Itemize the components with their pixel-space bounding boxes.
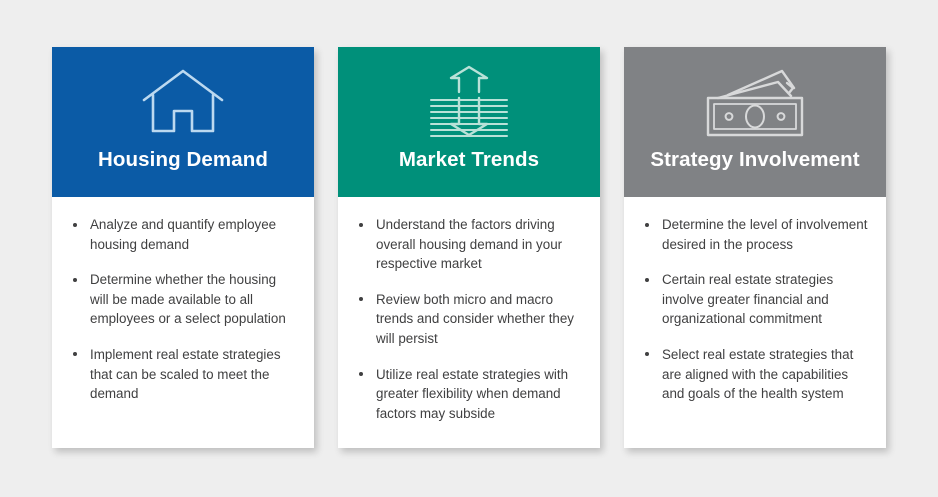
bullet-list: Understand the factors driving overall h… xyxy=(350,215,584,423)
card-strategy-involvement[interactable]: Strategy Involvement Determine the level… xyxy=(624,47,886,448)
card-header-market-trends: Market Trends xyxy=(338,47,600,197)
cards-board: Housing Demand Analyze and quantify empl… xyxy=(0,0,938,497)
list-item-text: Review both micro and macro trends and c… xyxy=(376,292,574,346)
list-item-text: Utilize real estate strategies with grea… xyxy=(376,367,568,421)
bullet-dot-icon xyxy=(645,278,649,282)
money-banknotes-icon xyxy=(700,64,810,142)
bullet-dot-icon xyxy=(73,352,77,356)
up-down-arrows-trend-icon xyxy=(429,64,509,142)
list-item-text: Determine the level of involvement desir… xyxy=(662,217,867,252)
list-item: Utilize real estate strategies with grea… xyxy=(350,365,584,424)
bullet-list: Determine the level of involvement desir… xyxy=(636,215,870,404)
list-item: Review both micro and macro trends and c… xyxy=(350,290,584,349)
card-header-housing-demand: Housing Demand xyxy=(52,47,314,197)
bullet-dot-icon xyxy=(73,223,77,227)
list-item: Analyze and quantify employee housing de… xyxy=(64,215,298,254)
bullet-dot-icon xyxy=(359,297,363,301)
list-item: Determine the level of involvement desir… xyxy=(636,215,870,254)
list-item: Understand the factors driving overall h… xyxy=(350,215,584,274)
list-item: Determine whether the housing will be ma… xyxy=(64,270,298,329)
bullet-list: Analyze and quantify employee housing de… xyxy=(64,215,298,404)
card-title-market-trends: Market Trends xyxy=(399,148,539,172)
bullet-dot-icon xyxy=(645,223,649,227)
card-housing-demand[interactable]: Housing Demand Analyze and quantify empl… xyxy=(52,47,314,448)
list-item-text: Select real estate strategies that are a… xyxy=(662,347,853,401)
card-body-strategy-involvement: Determine the level of involvement desir… xyxy=(624,197,886,448)
card-header-strategy-involvement: Strategy Involvement xyxy=(624,47,886,197)
list-item-text: Understand the factors driving overall h… xyxy=(376,217,562,271)
list-item-text: Certain real estate strategies involve g… xyxy=(662,272,833,326)
card-body-housing-demand: Analyze and quantify employee housing de… xyxy=(52,197,314,448)
card-title-housing-demand: Housing Demand xyxy=(98,148,268,172)
list-item-text: Analyze and quantify employee housing de… xyxy=(90,217,276,252)
card-title-strategy-involvement: Strategy Involvement xyxy=(650,148,859,172)
list-item: Certain real estate strategies involve g… xyxy=(636,270,870,329)
bullet-dot-icon xyxy=(359,223,363,227)
card-market-trends[interactable]: Market Trends Understand the factors dri… xyxy=(338,47,600,448)
card-body-market-trends: Understand the factors driving overall h… xyxy=(338,197,600,448)
bullet-dot-icon xyxy=(73,278,77,282)
bullet-dot-icon xyxy=(645,352,649,356)
bullet-dot-icon xyxy=(359,372,363,376)
house-outline-icon xyxy=(140,64,226,142)
list-item-text: Implement real estate strategies that ca… xyxy=(90,347,281,401)
list-item: Implement real estate strategies that ca… xyxy=(64,345,298,404)
list-item-text: Determine whether the housing will be ma… xyxy=(90,272,286,326)
list-item: Select real estate strategies that are a… xyxy=(636,345,870,404)
